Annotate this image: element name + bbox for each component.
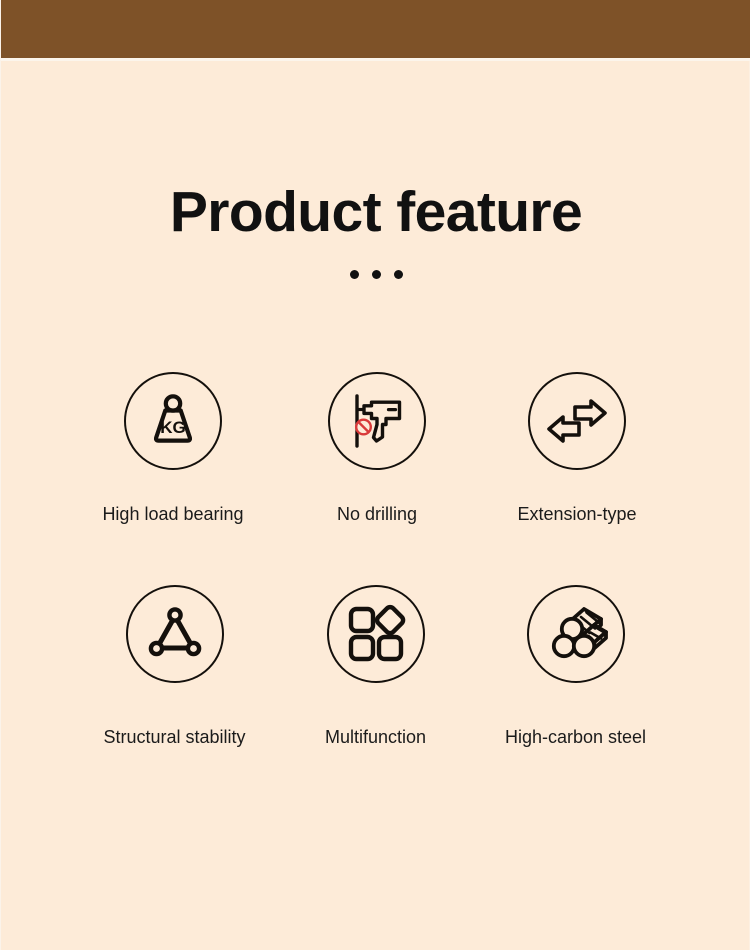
feature-grid: KG High load bearing: [1, 372, 750, 748]
heading-block: Product feature: [1, 176, 750, 279]
page-title: Product feature: [1, 176, 750, 248]
weight-kg-icon: KG: [124, 372, 222, 470]
feature-label: No drilling: [337, 503, 417, 525]
dot-divider: [1, 270, 750, 279]
feature-label: High-carbon steel: [505, 726, 646, 748]
feature-label: Multifunction: [325, 726, 426, 748]
feature-item-multifunction[interactable]: Multifunction: [276, 585, 476, 748]
feature-item-high-load-bearing[interactable]: KG High load bearing: [73, 372, 273, 525]
feature-item-no-drilling[interactable]: No drilling: [277, 372, 477, 525]
feature-item-extension-type[interactable]: Extension-type: [477, 372, 677, 525]
feature-label: High load bearing: [102, 503, 243, 525]
feature-label: Structural stability: [103, 726, 245, 748]
top-banner: [1, 0, 750, 58]
four-shapes-icon: [327, 585, 425, 683]
triangle-node-icon: [126, 585, 224, 683]
feature-item-structural-stability[interactable]: Structural stability: [75, 585, 275, 748]
feature-row: KG High load bearing: [1, 372, 750, 525]
divider-dot: [372, 270, 381, 279]
prohibition-icon: [356, 420, 371, 435]
divider-dot: [394, 270, 403, 279]
feature-item-high-carbon-steel[interactable]: High-carbon steel: [476, 585, 676, 748]
feature-label: Extension-type: [517, 503, 636, 525]
divider-dot: [350, 270, 359, 279]
no-drilling-icon: [328, 372, 426, 470]
weight-unit-text: KG: [160, 418, 186, 437]
banner-underline: [1, 58, 750, 61]
steel-tubes-icon: [527, 585, 625, 683]
product-feature-page: Product feature KG High loa: [0, 0, 750, 950]
bidirectional-arrow-icon: [528, 372, 626, 470]
feature-row: Structural stability Multifunction: [1, 585, 750, 748]
